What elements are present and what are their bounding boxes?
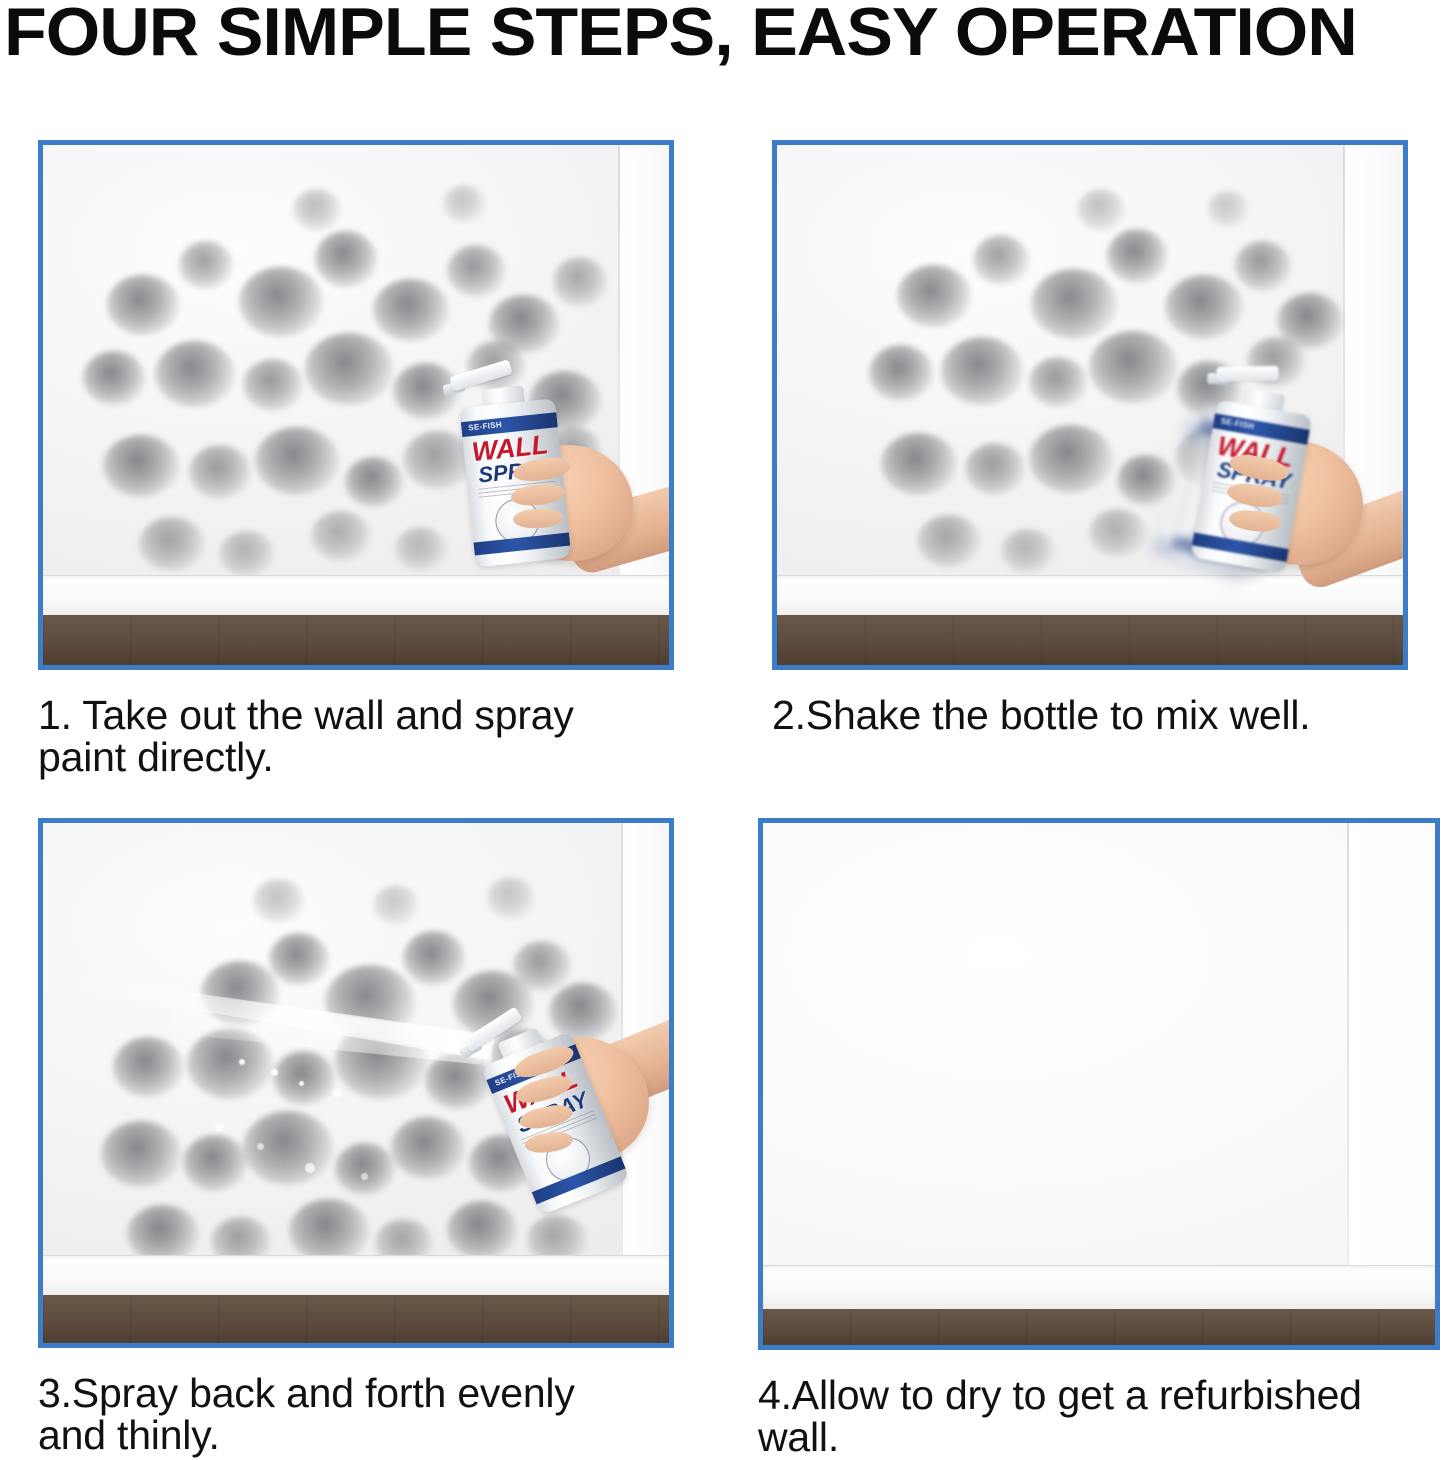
scene-moldy-wall-3: SE-FISH WALL SPRAY [43,823,669,1343]
scene-moldy-wall-2: SE-FISH WALL SPRAY [777,145,1403,665]
step-image-3: SE-FISH WALL SPRAY [38,818,674,1348]
step-caption-3: 3.Spray back and forth evenly and thinly… [38,1372,674,1456]
floor [763,1309,1435,1345]
step-card-3: SE-FISH WALL SPRAY 3.Spray back and fort… [38,818,674,1456]
step-card-1: SE-FISH WALL SPRAY 1. Take out the wall … [38,140,674,778]
steps-grid: SE-FISH WALL SPRAY 1. Take out the wall … [0,0,1445,1458]
baseboard [43,575,669,618]
step-image-4 [758,818,1440,1350]
baseboard [763,1265,1435,1310]
baseboard [43,1255,669,1298]
trigger-lever [1216,366,1278,382]
scene-moldy-wall-1: SE-FISH WALL SPRAY [43,145,669,665]
step-image-2: SE-FISH WALL SPRAY [772,140,1408,670]
floor [43,615,669,665]
floor [43,1295,669,1343]
step-card-4: 4.Allow to dry to get a refurbished wall… [758,818,1440,1458]
bottle-body: SE-FISH WALL SPRAY [459,398,571,567]
scene-clean-wall [763,823,1435,1345]
step-caption-4: 4.Allow to dry to get a refurbished wall… [758,1374,1440,1458]
step-card-2: SE-FISH WALL SPRAY 2.Shake the bottle to… [772,140,1408,736]
step-caption-2: 2.Shake the bottle to mix well. [772,694,1408,736]
floor [777,615,1403,665]
step-caption-1: 1. Take out the wall and spray paint dir… [38,694,674,778]
step-image-1: SE-FISH WALL SPRAY [38,140,674,670]
